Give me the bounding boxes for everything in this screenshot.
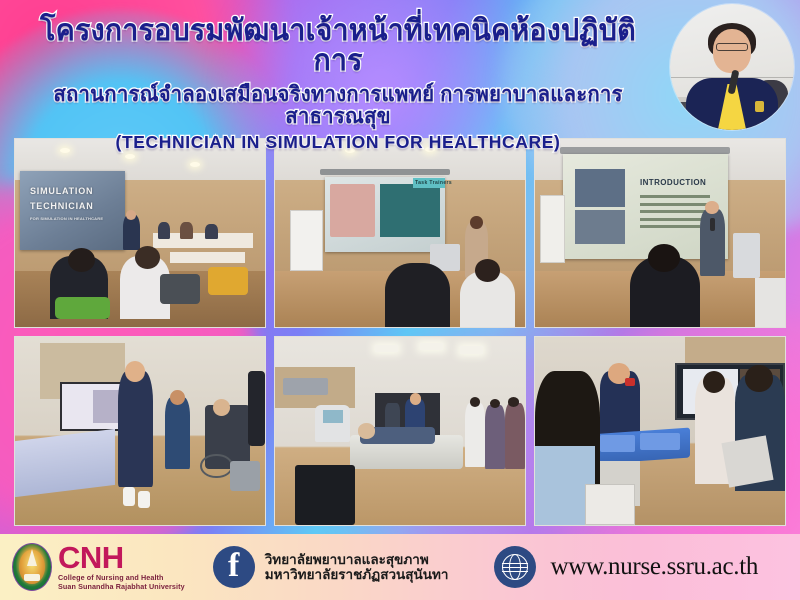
photo3-slide-bullet-2	[640, 203, 715, 206]
photo4-control-table	[15, 429, 115, 498]
photo4-wheelchair-wheel	[200, 454, 233, 478]
portrait-badge-pin	[755, 101, 764, 112]
poster-header: โครงการอบรมพัฒนาเจ้าหน้าที่เทคนิคห้องปฏิ…	[0, 0, 800, 134]
photo2-slide-photo-strip	[380, 184, 440, 237]
photo3-attendee-2	[755, 278, 785, 327]
photo5-observer-3	[505, 403, 525, 469]
globe-parallel-3	[502, 571, 528, 572]
photo4-instructor-head	[125, 361, 145, 382]
photo5-observer-3-head	[508, 397, 519, 406]
website-url[interactable]: www.nurse.ssru.ac.th	[550, 553, 758, 581]
portrait-glasses	[716, 43, 748, 51]
photo1-slide-tagline: FOR SIMULATION IN HEALTHCARE	[30, 216, 103, 221]
facebook-text-block: วิทยาลัยพยาบาลและสุขภาพ มหาวิทยาลัยราชภั…	[265, 552, 449, 582]
photo4-instructor-shoe-right	[138, 491, 151, 508]
cnh-subtitle-line1: College of Nursing and Health	[58, 573, 185, 582]
gallery-photo-3[interactable]: INTRODUCTION	[534, 138, 786, 328]
photo6-panel-control-right	[640, 433, 680, 450]
globe-parallel-1	[502, 563, 528, 564]
facebook-icon[interactable]	[213, 546, 255, 588]
photo1-chair-1	[160, 274, 200, 304]
gallery-photo-5[interactable]	[274, 336, 526, 526]
photo6-notebook	[585, 484, 635, 525]
photo6-clipboard	[721, 435, 773, 487]
photo2-attendee-2-head	[475, 259, 500, 282]
photo5-manikin-head	[358, 423, 376, 438]
photo5-foreground-monitor	[295, 465, 355, 525]
photo4-manikin-legs	[230, 461, 260, 491]
photo1-panelist-3	[205, 224, 218, 239]
photo2-attendee-1	[385, 263, 450, 327]
photo3-slide-image-1	[575, 169, 625, 207]
photo5-ventilator-screen	[323, 410, 343, 423]
photo5-instructor-head	[410, 393, 421, 404]
website-group[interactable]: www.nurse.ssru.ac.th	[494, 546, 758, 588]
photo3-flipchart	[540, 195, 565, 263]
poster-footer: CNH College of Nursing and Health Suan S…	[0, 534, 800, 600]
photo3-slide-bullet-5	[640, 225, 700, 228]
title-line-2: สถานการณ์จำลองเสมือนจริงทางการแพทย์ การพ…	[18, 84, 658, 127]
gallery-photo-6[interactable]	[534, 336, 786, 526]
gallery-photo-1[interactable]: SIMULATION TECHNICIAN FOR SIMULATION IN …	[14, 138, 266, 328]
photo1-presenter-head	[126, 210, 136, 219]
photo5-ceiling-light-1	[375, 345, 398, 353]
photo1-panelist-2	[180, 222, 193, 239]
photo5-observer-1	[465, 403, 485, 467]
gallery-photo-2[interactable]: Task Trainers	[274, 138, 526, 328]
photo4-staff-head	[170, 390, 185, 405]
globe-icon[interactable]	[494, 546, 536, 588]
title-line-3: (TECHNICIAN IN SIMULATION FOR HEALTHCARE…	[8, 134, 668, 152]
photo1-chair-yellow	[208, 267, 248, 295]
speaker-portrait	[670, 4, 794, 130]
photo5-ceiling-light-3	[460, 346, 483, 354]
photo5-ceiling-light-2	[420, 343, 443, 351]
photo-gallery-grid: SIMULATION TECHNICIAN FOR SIMULATION IN …	[14, 138, 786, 526]
photo1-slide-title: SIMULATION	[30, 186, 93, 196]
photo4-manikin-head	[213, 399, 231, 416]
photo1-panelist-1	[158, 222, 171, 239]
title-block: โครงการอบรมพัฒนาเจ้าหน้าที่เทคนิคห้องปฏิ…	[8, 16, 668, 152]
facebook-group[interactable]: วิทยาลัยพยาบาลและสุขภาพ มหาวิทยาลัยราชภั…	[213, 546, 449, 588]
cnh-acronym: CNH	[58, 543, 185, 573]
portrait-face	[713, 29, 751, 73]
photo2-screen-rail	[320, 169, 450, 175]
ssru-emblem-icon	[12, 543, 52, 591]
photo3-slide-title: INTRODUCTION	[640, 178, 706, 187]
photo3-speaker-microphone	[710, 218, 715, 231]
cnh-subtitle-line2: Suan Sunandha Rajabhat University	[58, 582, 185, 591]
photo6-participant-2-head	[745, 365, 773, 391]
event-poster: โครงการอบรมพัฒนาเจ้าหน้าที่เทคนิคห้องปฏิ…	[0, 0, 800, 600]
photo1-chair-green	[55, 297, 110, 320]
photo2-slide-title: Task Trainers	[415, 180, 452, 186]
photo4-instructor-shoe-left	[123, 487, 136, 506]
facebook-line-2: มหาวิทยาลัยราชภัฏสวนสุนันทา	[265, 567, 449, 582]
photo3-av-cart	[733, 233, 761, 278]
photo5-observer-2	[485, 405, 505, 469]
photo4-observer	[248, 371, 266, 446]
cnh-text-block: CNH College of Nursing and Health Suan S…	[58, 543, 185, 591]
photo1-ceiling-light-3	[190, 162, 200, 167]
emblem-spire	[27, 549, 37, 566]
gallery-photo-4[interactable]	[14, 336, 266, 526]
photo1-desk-row	[170, 252, 245, 263]
facebook-line-1: วิทยาลัยพยาบาลและสุขภาพ	[265, 552, 449, 567]
photo6-panel-control-left	[600, 435, 635, 452]
cnh-logo-group: CNH College of Nursing and Health Suan S…	[12, 543, 185, 591]
photo1-slide-subtitle: TECHNICIAN	[30, 201, 94, 211]
emblem-base	[24, 574, 40, 581]
title-line-1: โครงการอบรมพัฒนาเจ้าหน้าที่เทคนิคห้องปฏิ…	[18, 16, 658, 76]
photo5-wall-outlet-panel	[283, 378, 328, 395]
photo1-attendee-2-head	[135, 246, 160, 269]
photo6-instructor-logo	[625, 378, 635, 386]
photo3-speaker-head	[705, 201, 719, 214]
photo4-staff-member	[165, 397, 190, 468]
photo2-slide-hand-image	[330, 184, 375, 237]
photo2-speaker-head	[470, 216, 483, 229]
photo1-ceiling-light-2	[125, 154, 135, 159]
globe-parallel-2	[502, 567, 528, 568]
photo3-slide-bullet-1	[640, 195, 710, 198]
photo2-flipchart	[290, 210, 323, 270]
photo3-slide-image-2	[575, 210, 625, 244]
photo4-instructor	[118, 371, 153, 488]
photo5-observer-1-head	[470, 397, 480, 406]
photo3-slide-bullet-3	[640, 210, 705, 213]
